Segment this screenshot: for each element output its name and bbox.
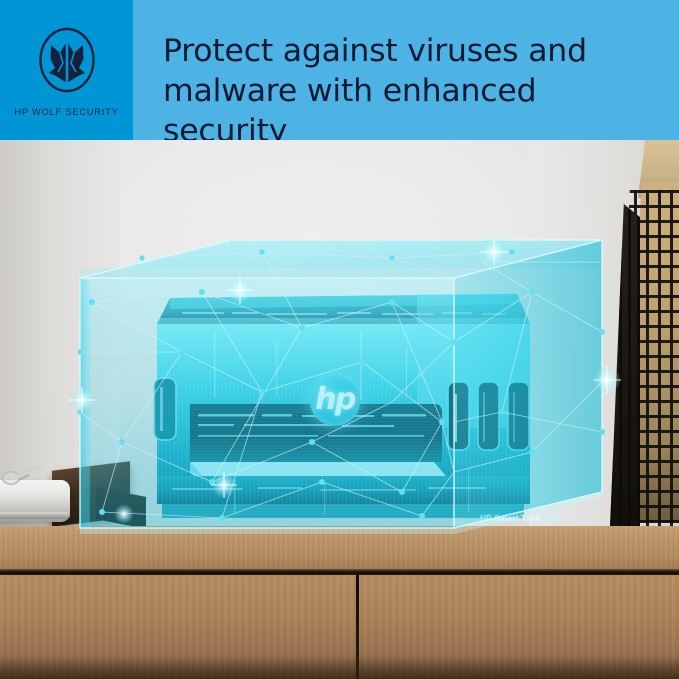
banner-headline: Protect against viruses and malware with… — [163, 31, 665, 140]
product-scene: hp HP Smart Tank 7001 — [0, 140, 679, 679]
promo-image: HP WOLF SECURITY Protect against viruses… — [0, 0, 679, 679]
laptop-base-edge — [0, 512, 70, 519]
headline-line-2: malware with enhanced security — [163, 71, 665, 140]
hp-wolf-security-wordmark: HP WOLF SECURITY — [14, 107, 118, 117]
glass-cube-overlay — [62, 232, 622, 544]
desk-lower-shadow — [0, 656, 679, 679]
security-glass-box: hp HP Smart Tank 7001 — [62, 232, 622, 544]
wolf-head-icon — [36, 26, 98, 98]
eyeglasses-icon — [2, 464, 42, 486]
headline-line-1: Protect against viruses and — [163, 31, 665, 71]
hp-wolf-security-logo-panel: HP WOLF SECURITY — [0, 0, 133, 140]
header-banner: HP WOLF SECURITY Protect against viruses… — [0, 0, 679, 140]
